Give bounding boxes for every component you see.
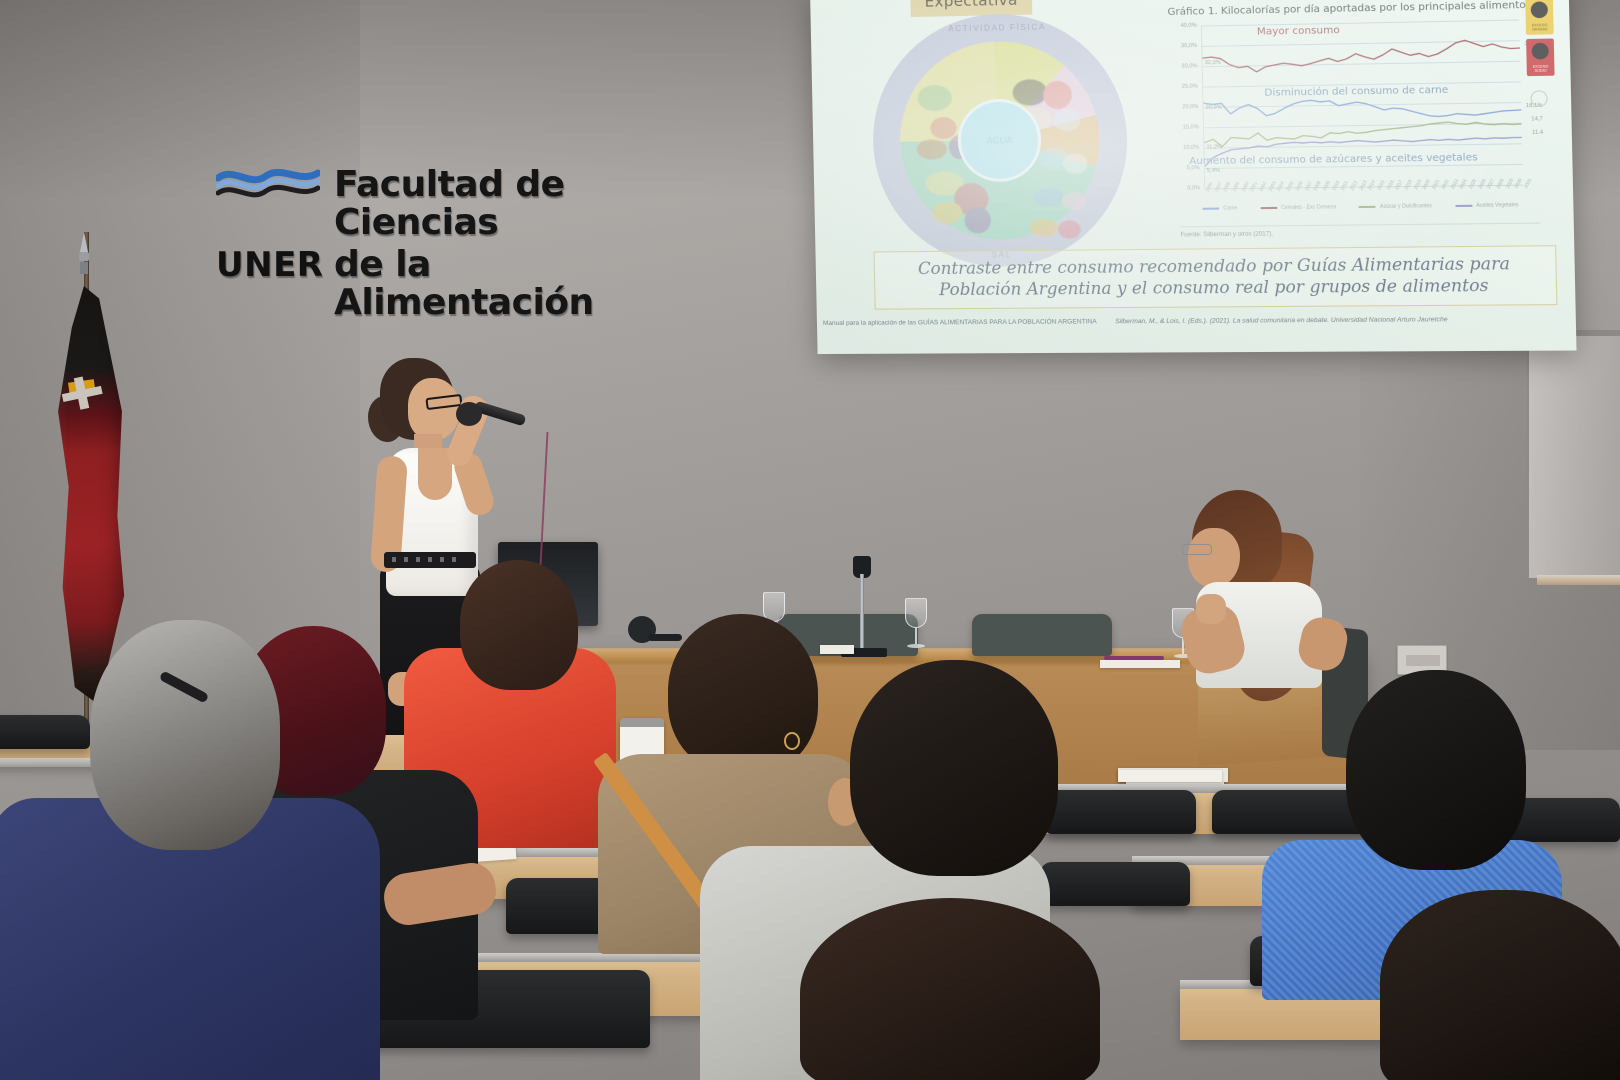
badge-label-0: EXCESO GRASAS — [1526, 23, 1554, 32]
chart-source: Fuente: Silberman y otros (2017). — [1180, 231, 1273, 238]
legend-swatch — [1260, 207, 1277, 209]
venue-wall-sign: Facultad de Ciencias UNER de la Alimenta… — [216, 160, 686, 270]
chart-line-0 — [1202, 39, 1520, 72]
chart-y-tick: 0,0% — [1187, 185, 1200, 191]
kcal-line-chart: Gráfico 1. Kilocalorías por día aportada… — [1167, 0, 1549, 251]
whiteboard-tray — [1537, 575, 1620, 585]
presenter-belt — [384, 552, 476, 568]
audience-grey-hair-navy — [0, 620, 390, 1080]
whiteboard — [1527, 336, 1620, 578]
chart-annotation-0: Mayor consumo — [1257, 25, 1340, 38]
sign-institution-abbrev: UNER — [216, 248, 320, 282]
seated-moderator — [1160, 490, 1360, 680]
legend-label: Aceites Vegetales — [1476, 202, 1518, 209]
sign-line1: Facultad de Ciencias — [334, 166, 686, 242]
chart-legend-item: Azúcar y Dulcificantes — [1359, 203, 1432, 210]
legend-label: Azúcar y Dulcificantes — [1380, 203, 1432, 210]
chart-line-1 — [1203, 97, 1521, 120]
chart-y-tick: 40,0% — [1180, 23, 1196, 29]
chart-y-tick: 15,0% — [1183, 124, 1199, 130]
chart-start-label: 5,4% — [1207, 168, 1220, 174]
moderator-glasses-icon — [1182, 544, 1212, 555]
chart-start-label: 32,0% — [1205, 60, 1221, 66]
chart-y-tick: 35,0% — [1181, 43, 1197, 49]
chart-legend-item: Carne — [1203, 205, 1238, 211]
legend-label: Cereales - Exc Cerveza — [1281, 204, 1336, 211]
notebook-right — [1118, 770, 1222, 782]
audience-front-right-dark-hair — [1380, 890, 1620, 1080]
handheld-microphone — [456, 398, 530, 442]
chart-title: Gráfico 1. Kilocalorías por día aportada… — [1167, 0, 1544, 18]
chart-end-label: 11,4 — [1532, 130, 1543, 136]
projection-screen: Expectativa Realidad ACTIVIDAD FÍSICA SA… — [810, 0, 1577, 354]
chart-legend-item: Aceites Vegetales — [1455, 202, 1518, 209]
badge-label-1: EXCESO SODIO — [1527, 64, 1555, 73]
audience-front-dark-hair — [800, 898, 1120, 1080]
flag-finial-icon — [73, 232, 95, 276]
chart-legend-item: Cereales - Exc Cerveza — [1260, 204, 1336, 211]
lecture-hall-photo: Facultad de Ciencias UNER de la Alimenta… — [0, 0, 1620, 1080]
chart-y-tick: 10,0% — [1183, 145, 1199, 151]
legend-swatch — [1359, 206, 1376, 208]
slide-footer-left: Manual para la aplicación de las GUÍAS A… — [823, 318, 1097, 327]
legend-label: Carne — [1223, 205, 1237, 211]
chart-end-label: 14,7 — [1531, 116, 1543, 122]
chart-y-tick: 20,0% — [1182, 104, 1198, 110]
chart-start-label: 20,9% — [1206, 105, 1222, 111]
food-guide-wheel: ACTIVIDAD FÍSICA SAL — [871, 12, 1130, 268]
exceso-grasas-badge: EXCESO GRASAS — [1525, 0, 1553, 35]
sign-line2: de la Alimentación — [334, 246, 686, 322]
chart-line-2 — [1204, 121, 1522, 147]
chair-right-1 — [1046, 790, 1196, 834]
legend-swatch — [1455, 205, 1472, 207]
pen-on-table — [1104, 656, 1164, 660]
legend-swatch — [1203, 208, 1220, 210]
exceso-sodio-badge: EXCESO SODIO — [1526, 38, 1554, 76]
chart-x-tick: 2031 — [1523, 177, 1533, 189]
uner-wave-logo-icon — [216, 164, 320, 200]
chart-start-label: 11,2% — [1206, 145, 1222, 151]
moderator-hand-on-chin — [1196, 594, 1226, 624]
slide-caption: Contraste entre consumo recomendado por … — [874, 245, 1558, 309]
slide-footer: Manual para la aplicación de las GUÍAS A… — [823, 315, 1577, 327]
presidium-chair-2 — [972, 614, 1112, 656]
wine-glass-2 — [903, 598, 929, 650]
chart-y-tick: 30,0% — [1181, 63, 1197, 69]
chart-y-tick: 25,0% — [1182, 84, 1198, 90]
slide-footer-right: Silberman, M., & Lois, I. (Eds.). (2021)… — [1115, 316, 1448, 325]
